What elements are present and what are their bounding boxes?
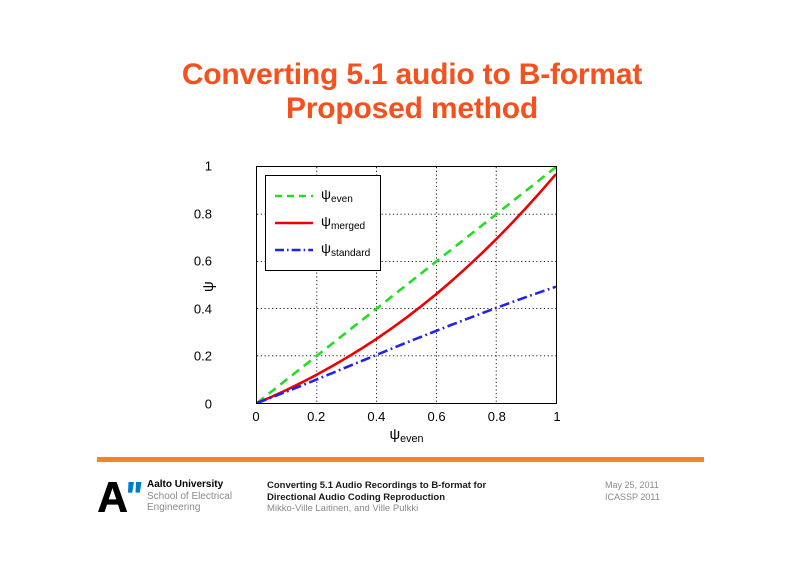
legend-item-standard: ψstandard bbox=[274, 236, 370, 263]
y-tick-label: 0.2 bbox=[152, 349, 212, 364]
chart-plot-area: ψeven ψmerged ψsta bbox=[256, 166, 557, 404]
y-tick-label: 0.6 bbox=[152, 254, 212, 269]
y-tick-label: 0.4 bbox=[152, 301, 212, 316]
x-tick-label: 0.4 bbox=[356, 409, 396, 424]
chart-legend: ψeven ψmerged ψsta bbox=[265, 175, 381, 271]
x-tick-label: 0 bbox=[236, 409, 276, 424]
y-tick-label: 1 bbox=[152, 159, 212, 174]
legend-label-merged: ψmerged bbox=[321, 214, 365, 232]
aalto-logo-icon bbox=[97, 480, 143, 514]
page-title: Converting 5.1 audio to B-format Propose… bbox=[0, 58, 800, 126]
x-tick-label: 0.6 bbox=[417, 409, 457, 424]
chart-y-axis-label: ψ bbox=[200, 281, 217, 292]
chart-x-axis-label: ψeven bbox=[256, 426, 557, 445]
legend-label-standard: ψstandard bbox=[321, 241, 370, 259]
slide-footer: Aalto University School of Electrical En… bbox=[97, 478, 717, 526]
footer-divider bbox=[97, 457, 704, 462]
chart-figure: ψ ψeven bbox=[196, 150, 576, 435]
x-tick-label: 1 bbox=[537, 409, 577, 424]
org-unit-line-2: Engineering bbox=[147, 502, 232, 514]
paper-title-line-1: Converting 5.1 Audio Recordings to B-for… bbox=[267, 480, 486, 492]
presentation-meta: May 25, 2011 ICASSP 2011 bbox=[605, 480, 660, 503]
slide-canvas: Converting 5.1 audio to B-format Propose… bbox=[0, 0, 800, 565]
legend-label-even: ψeven bbox=[321, 187, 353, 205]
title-line-2: Proposed method bbox=[24, 92, 800, 126]
chart-series-standard bbox=[257, 287, 556, 403]
title-line-1: Converting 5.1 audio to B-format bbox=[24, 58, 800, 92]
legend-item-even: ψeven bbox=[274, 182, 370, 209]
presentation-conference: ICASSP 2011 bbox=[605, 492, 660, 504]
x-tick-label: 0.8 bbox=[477, 409, 517, 424]
x-tick-label: 0.2 bbox=[296, 409, 336, 424]
paper-title-line-2: Directional Audio Coding Reproduction bbox=[267, 492, 486, 504]
aalto-logo-text: Aalto University School of Electrical En… bbox=[147, 479, 232, 514]
y-tick-label: 0 bbox=[152, 397, 212, 412]
presentation-date: May 25, 2011 bbox=[605, 480, 660, 492]
y-tick-label: 0.8 bbox=[152, 206, 212, 221]
legend-item-merged: ψmerged bbox=[274, 209, 370, 236]
paper-reference: Converting 5.1 Audio Recordings to B-for… bbox=[267, 480, 486, 515]
org-unit-line-1: School of Electrical bbox=[147, 491, 232, 503]
paper-authors: Mikko-Ville Laitinen, and Ville Pulkki bbox=[267, 503, 486, 515]
org-name: Aalto University bbox=[147, 479, 232, 491]
